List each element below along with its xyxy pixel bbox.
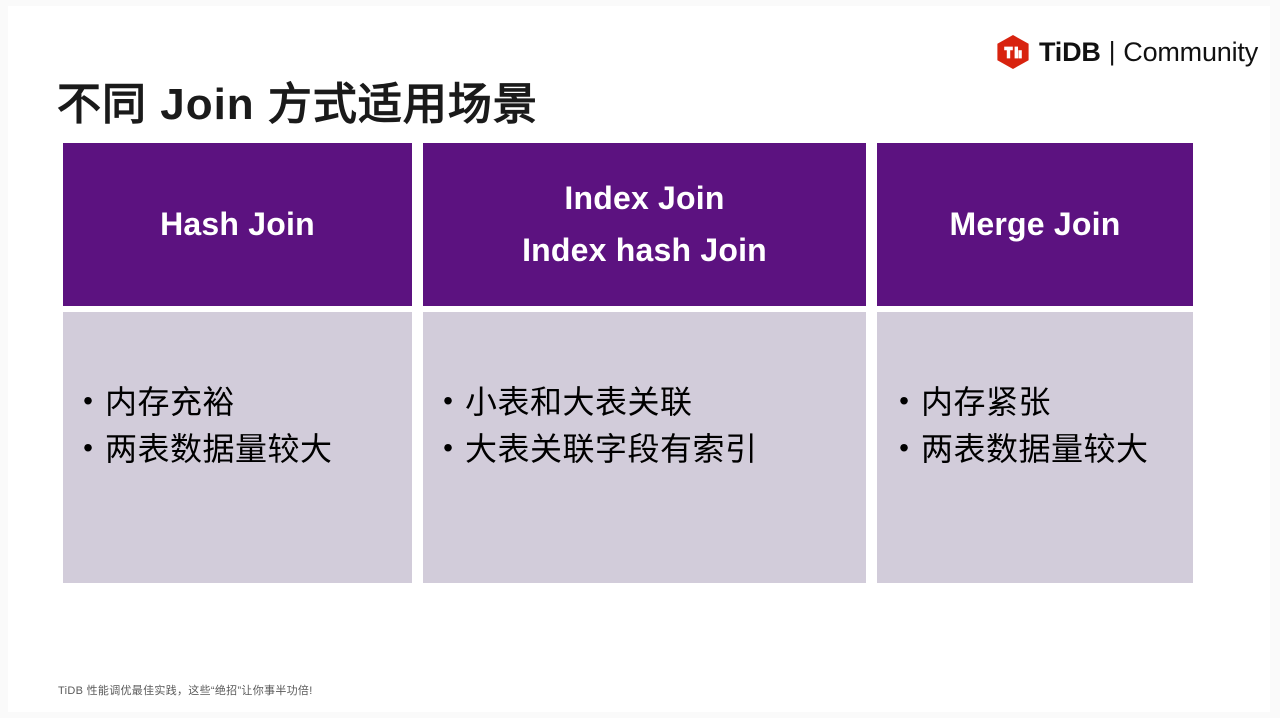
page-margin-bottom xyxy=(0,712,1280,718)
bullet-marker-icon: • xyxy=(431,428,465,468)
bullet-text: 内存充裕 xyxy=(105,381,235,424)
list-item: • 两表数据量较大 xyxy=(877,428,1193,475)
list-item: • 内存紧张 xyxy=(877,381,1193,428)
bullet-text: 大表关联字段有索引 xyxy=(465,428,758,471)
bullet-list-hash-join: • 内存充裕 • 两表数据量较大 xyxy=(63,381,412,475)
page-title-prefix: 不同 xyxy=(57,80,160,129)
card-body-hash-join: • 内存充裕 • 两表数据量较大 xyxy=(63,312,412,583)
bullet-list-index-join: • 小表和大表关联 • 大表关联字段有索引 xyxy=(423,381,866,475)
card-index-join: Index Join Index hash Join • 小表和大表关联 • 大… xyxy=(423,143,866,583)
page-title-keyword: Join xyxy=(160,80,254,129)
card-header-index-join: Index Join Index hash Join xyxy=(423,143,866,306)
page-margin-left xyxy=(0,0,8,718)
footer-caption: TiDB 性能调优最佳实践，这些“绝招”让你事半功倍! xyxy=(58,682,313,698)
bullet-marker-icon: • xyxy=(431,381,465,421)
card-body-index-join: • 小表和大表关联 • 大表关联字段有索引 xyxy=(423,312,866,583)
bullet-list-merge-join: • 内存紧张 • 两表数据量较大 xyxy=(877,381,1193,475)
card-header-line-secondary: Index hash Join xyxy=(522,225,767,276)
brand-name: TiDB xyxy=(1039,39,1101,66)
page-title: 不同 Join 方式适用场景 xyxy=(57,79,538,132)
list-item: • 大表关联字段有索引 xyxy=(423,428,866,475)
card-header-line: Hash Join xyxy=(160,199,315,250)
tidb-hexagon-logo-icon xyxy=(996,34,1030,70)
bullet-marker-icon: • xyxy=(887,381,921,421)
card-header-line: Index Join xyxy=(564,173,724,224)
list-item: • 两表数据量较大 xyxy=(63,428,412,475)
list-item: • 小表和大表关联 xyxy=(423,381,866,428)
bullet-marker-icon: • xyxy=(887,428,921,468)
card-merge-join: Merge Join • 内存紧张 • 两表数据量较大 xyxy=(877,143,1193,583)
join-comparison-cards: Hash Join • 内存充裕 • 两表数据量较大 Index Join xyxy=(63,143,1193,583)
card-header-hash-join: Hash Join xyxy=(63,143,412,306)
bullet-marker-icon: • xyxy=(71,381,105,421)
brand-separator: | xyxy=(1109,38,1116,64)
card-hash-join: Hash Join • 内存充裕 • 两表数据量较大 xyxy=(63,143,412,583)
bullet-text: 小表和大表关联 xyxy=(465,381,693,424)
brand-lockup: TiDB | Community xyxy=(996,33,1258,71)
card-header-merge-join: Merge Join xyxy=(877,143,1193,306)
bullet-text: 内存紧张 xyxy=(921,381,1051,424)
card-body-merge-join: • 内存紧张 • 两表数据量较大 xyxy=(877,312,1193,583)
list-item: • 内存充裕 xyxy=(63,381,412,428)
bullet-marker-icon: • xyxy=(71,428,105,468)
slide-canvas: TiDB | Community 不同 Join 方式适用场景 Hash Joi… xyxy=(0,0,1280,718)
bullet-text: 两表数据量较大 xyxy=(105,428,333,471)
card-header-line: Merge Join xyxy=(950,199,1121,250)
page-margin-top xyxy=(0,0,1280,6)
page-title-suffix: 方式适用场景 xyxy=(255,80,538,129)
brand-product: Community xyxy=(1123,39,1258,66)
page-margin-right xyxy=(1270,0,1280,718)
brand-text: TiDB | Community xyxy=(1039,39,1258,66)
bullet-text: 两表数据量较大 xyxy=(921,428,1149,471)
